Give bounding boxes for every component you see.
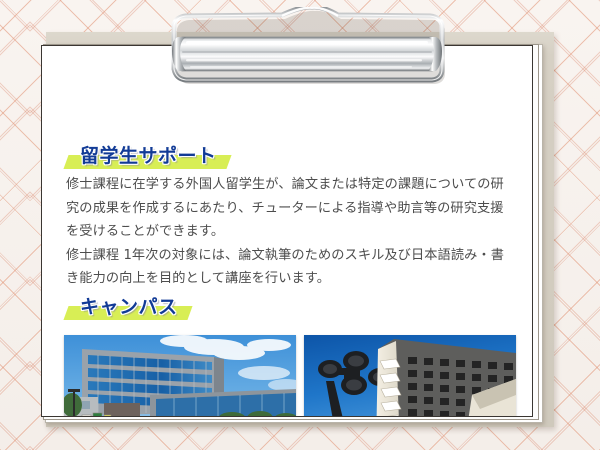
kanda-campus-image <box>304 335 516 417</box>
campus-photo-ikuta[interactable]: Ikuta Campus <box>64 335 296 417</box>
section-heading-campus-label: キャンパス <box>80 296 178 318</box>
section-heading-support: 留学生サポート <box>80 141 217 168</box>
support-body-text: 修士課程に在学する外国人留学生が、論文または特定の課題についての研究の成果を作成… <box>66 173 516 291</box>
paper-content: 留学生サポート 修士課程に在学する外国人留学生が、論文または特定の課題についての… <box>42 46 532 416</box>
ikuta-campus-image <box>64 335 296 417</box>
section-heading-support-label: 留学生サポート <box>80 145 217 167</box>
campus-photo-kanda[interactable]: Kanda Campus <box>304 335 516 417</box>
section-heading-campus: キャンパス <box>80 292 178 319</box>
support-paragraph-2: 修士課程 1年次の対象には、論文執筆のためのスキル及び日本語読み・書き能力の向上… <box>66 244 516 291</box>
campus-photo-gallery: Ikuta Campus <box>64 335 516 417</box>
paper-sheet-main: 留学生サポート 修士課程に在学する外国人留学生が、論文または特定の課題についての… <box>41 45 533 417</box>
support-paragraph-1: 修士課程に在学する外国人留学生が、論文または特定の課題についての研究の成果を作成… <box>66 173 516 244</box>
